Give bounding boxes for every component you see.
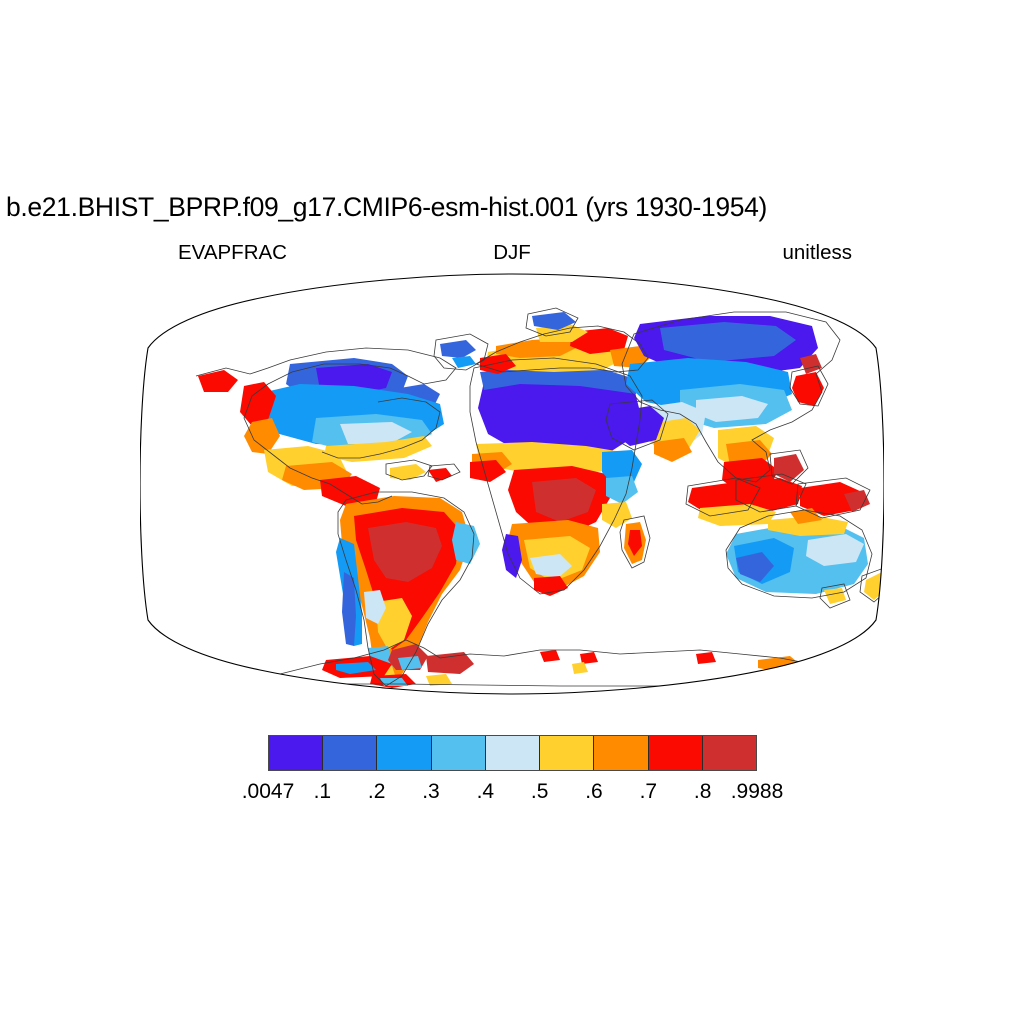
colorbar[interactable] [268,735,757,771]
colorbar-bin-9[interactable] [703,736,756,770]
colorbar-tick-5: .4 [477,780,495,804]
colorbar-bin-3[interactable] [377,736,431,770]
map-interior [140,272,884,696]
page-title: b.e21.BHIST_BPRP.f09_g17.CMIP6-esm-hist.… [6,192,1020,222]
units-label: unitless [782,240,852,266]
climate-map-figure: b.e21.BHIST_BPRP.f09_g17.CMIP6-esm-hist.… [0,0,1024,1024]
colorbar-tick-4: .3 [422,780,440,804]
colorbar-bin-8[interactable] [649,736,703,770]
colorbar-tick-8: .7 [640,780,658,804]
colorbar-tick-3: .2 [368,780,386,804]
colorbar-bin-4[interactable] [432,736,486,770]
map-panel [140,272,884,696]
colorbar-bin-1[interactable] [269,736,323,770]
colorbar-tick-7: .6 [585,780,603,804]
colorbar-tick-9: .8 [694,780,712,804]
colorbar-bin-6[interactable] [540,736,594,770]
world-map [140,272,884,696]
colorbar-tick-10: .9988 [731,780,784,804]
colorbar-tick-6: .5 [531,780,549,804]
subtitle-row: EVAPFRAC DJF unitless [150,240,874,266]
colorbar-tick-1: .0047 [242,780,295,804]
colorbar-bin-5[interactable] [486,736,540,770]
colorbar-tick-labels: .0047.1.2.3.4.5.6.7.8.9988 [268,780,757,806]
colorbar-tick-2: .1 [314,780,332,804]
colorbar-bin-7[interactable] [594,736,648,770]
colorbar-bin-2[interactable] [323,736,377,770]
season-label: DJF [150,240,874,266]
